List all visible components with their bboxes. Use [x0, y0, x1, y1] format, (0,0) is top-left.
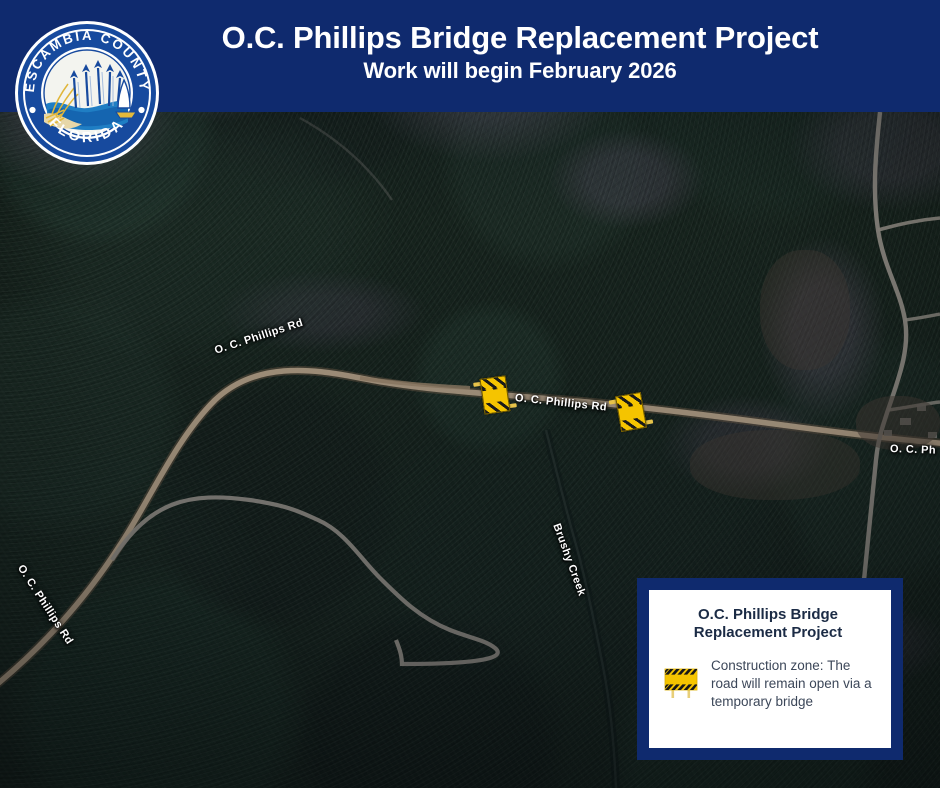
page-subtitle: Work will begin February 2026 [170, 58, 870, 83]
project-map-graphic: O. C. Phillips Rd O. C. Phillips Rd O. C… [0, 0, 940, 788]
escambia-county-seal: ESCAMBIA COUNTY FLORIDA [12, 18, 162, 168]
seal-icon: ESCAMBIA COUNTY FLORIDA [12, 18, 162, 168]
legend-entry: Construction zone: The road will remain … [661, 657, 875, 711]
construction-barricade-icon [661, 661, 701, 701]
legend-panel: O.C. Phillips Bridge Replacement Project [649, 590, 891, 748]
legend-title: O.C. Phillips Bridge Replacement Project [661, 606, 875, 643]
map-label-road-east: O. C. Ph [890, 443, 936, 457]
header-text-block: O.C. Phillips Bridge Replacement Project… [170, 22, 870, 83]
legend-caption: Construction zone: The road will remain … [711, 657, 875, 711]
legend-box: O.C. Phillips Bridge Replacement Project [637, 578, 903, 760]
construction-zone-marker-west[interactable] [480, 375, 511, 414]
page-title: O.C. Phillips Bridge Replacement Project [170, 22, 870, 55]
